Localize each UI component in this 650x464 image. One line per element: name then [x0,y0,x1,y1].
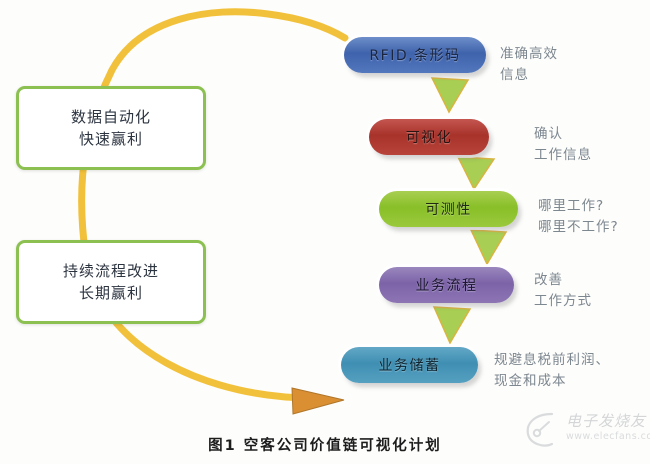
stage-note-measurability: 哪里工作? 哪里不工作? [538,196,619,238]
left-box-1-line1: 数据自动化 [71,106,151,129]
stage-pill-visualization-label: 可视化 [406,127,453,147]
stage-pill-visualization: 可视化 [369,119,489,155]
stage-note-visualization: 确认 工作信息 [534,124,592,166]
loop-arrow-head-outline [292,388,344,414]
stage-connector-4 [434,307,470,343]
stage-pill-measurability: 可测性 [379,191,518,227]
loop-arrow-head [292,388,344,414]
stage-note-business-savings: 规避息税前利润、 现金和成本 [494,350,610,392]
stage-pill-rfid-barcode: RFID,条形码 [344,37,486,73]
stage-note-1-line1: 准确高效 [500,44,558,65]
stage-note-rfid-barcode: 准确高效 信息 [500,44,558,86]
stage-note-2-line1: 确认 [534,124,592,145]
stage-pill-business-savings: 业务储蓄 [341,347,478,383]
stage-pill-rfid-barcode-label: RFID,条形码 [369,45,460,65]
figure-caption: 图1 空客公司价值链可视化计划 [0,434,650,455]
stage-note-3-line1: 哪里工作? [538,196,619,217]
stage-pill-business-process: 业务流程 [379,267,514,303]
stage-note-4-line2: 工作方式 [534,291,592,312]
left-box-data-automation: 数据自动化 快速赢利 [16,86,206,170]
left-box-process-improvement: 持续流程改进 长期赢利 [16,240,206,324]
watermark-brand: 电子发烧友 [566,410,646,431]
stage-note-5-line2: 现金和成本 [494,371,610,392]
stage-note-4-line1: 改善 [534,270,592,291]
diagram-canvas: 数据自动化 快速赢利 持续流程改进 长期赢利 RFID,条形码 可视化 可测性 … [0,0,650,464]
stage-connector-1 [432,78,468,112]
stage-note-1-line2: 信息 [500,65,558,86]
left-box-2-line2: 长期赢利 [79,282,143,305]
stage-note-2-line2: 工作信息 [534,145,592,166]
left-box-1-line2: 快速赢利 [79,128,143,151]
stage-pill-business-process-label: 业务流程 [416,275,478,295]
stage-pill-business-savings-label: 业务储蓄 [379,355,441,375]
stage-note-business-process: 改善 工作方式 [534,270,592,312]
stage-note-5-line1: 规避息税前利润、 [494,350,610,371]
stage-pill-measurability-label: 可测性 [425,199,472,219]
stage-connector-3 [471,230,506,264]
stage-connector-2 [458,157,494,189]
left-box-2-line1: 持续流程改进 [63,260,159,283]
stage-note-3-line2: 哪里不工作? [538,217,619,238]
loop-arrow-path [82,12,345,398]
